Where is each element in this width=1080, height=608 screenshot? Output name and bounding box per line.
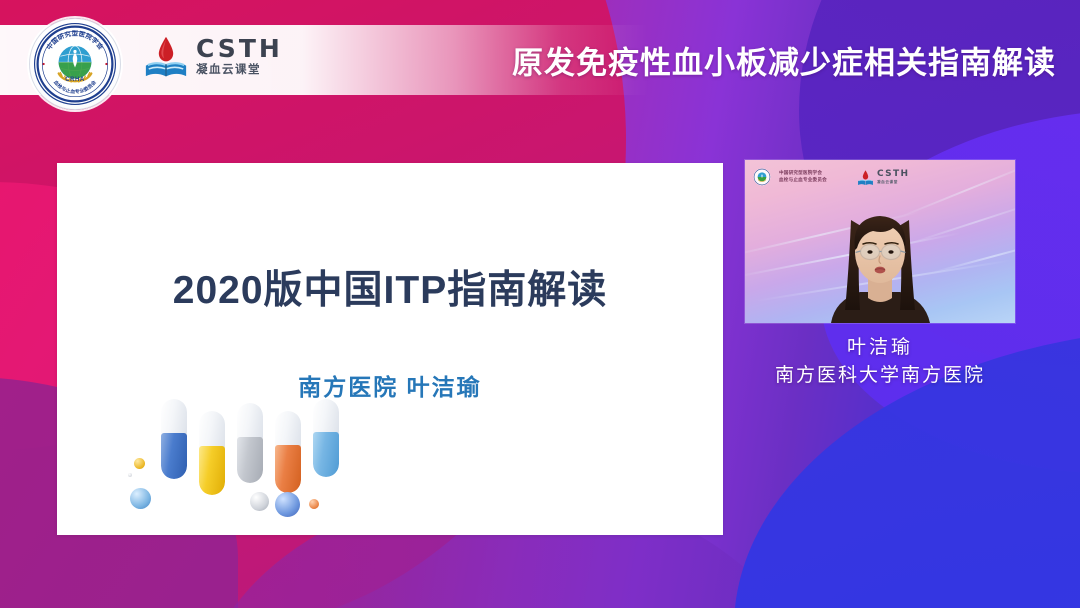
orange-capsule — [275, 411, 301, 493]
capsule-bottom — [313, 432, 339, 477]
csth-mark-icon — [857, 169, 874, 186]
small-sphere-tiny — [128, 473, 132, 477]
capsule-bottom — [275, 445, 301, 493]
crha-emblem-icon — [753, 168, 771, 186]
speaker-name: 叶洁瑜 — [745, 334, 1015, 362]
small-sphere-gray — [250, 492, 269, 511]
svg-text:CRHA: CRHA — [65, 77, 85, 83]
video-csth-logo: CSTH 凝血云课堂 — [857, 169, 910, 186]
speaker-caption: 叶洁瑜 南方医科大学南方医院 — [745, 334, 1015, 389]
capsule-top — [313, 399, 339, 435]
capsule-bottom — [199, 446, 225, 495]
capsule-top — [161, 399, 187, 436]
slide-content: 2020版中国ITP指南解读 南方医院 叶洁瑜 — [57, 163, 723, 535]
capsule-top — [237, 403, 263, 440]
small-sphere-yellow — [134, 458, 145, 469]
capsule-top — [275, 411, 301, 449]
capsules-illustration — [119, 396, 349, 531]
speaker-organization: 南方医科大学南方医院 — [745, 362, 1015, 390]
presentation-stage: 中国研究型医院学会 血栓与止血专业委员会 CRHA — [0, 0, 1080, 608]
small-sphere-orange — [309, 499, 319, 509]
video-overlay-logos: 中国研究型医院学会 血栓与止血专业委员会 CSTH 凝血云课堂 — [753, 166, 1007, 188]
video-csth-en: CSTH — [877, 170, 910, 179]
small-sphere-blue-right — [275, 492, 300, 517]
csth-logo: CSTH 凝血云课堂 — [143, 33, 283, 79]
light-blue-capsule — [313, 399, 339, 477]
csth-logo-en: CSTH — [196, 36, 283, 61]
video-csth-cn: 凝血云课堂 — [877, 181, 910, 185]
blue-capsule — [161, 399, 187, 479]
csth-logo-cn: 凝血云课堂 — [196, 65, 283, 77]
crha-emblem-icon: 中国研究型医院学会 血栓与止血专业委员会 CRHA — [29, 18, 121, 110]
speaker-video-feed[interactable]: 中国研究型医院学会 血栓与止血专业委员会 CSTH 凝血云课堂 — [745, 160, 1015, 323]
video-emblem-text: 中国研究型医院学会 血栓与止血专业委员会 — [779, 170, 827, 184]
gray-capsule — [237, 403, 263, 483]
slide-title: 2020版中国ITP指南解读 — [57, 259, 723, 315]
header-bar: 中国研究型医院学会 血栓与止血专业委员会 CRHA — [0, 25, 1080, 95]
yellow-capsule — [199, 411, 225, 495]
capsule-top — [199, 411, 225, 450]
csth-mark-icon — [143, 33, 189, 79]
page-title: 原发免疫性血小板减少症相关指南解读 — [512, 38, 1056, 83]
capsule-bottom — [161, 433, 187, 479]
capsule-bottom — [237, 437, 263, 483]
small-sphere-blue-left — [130, 488, 151, 509]
